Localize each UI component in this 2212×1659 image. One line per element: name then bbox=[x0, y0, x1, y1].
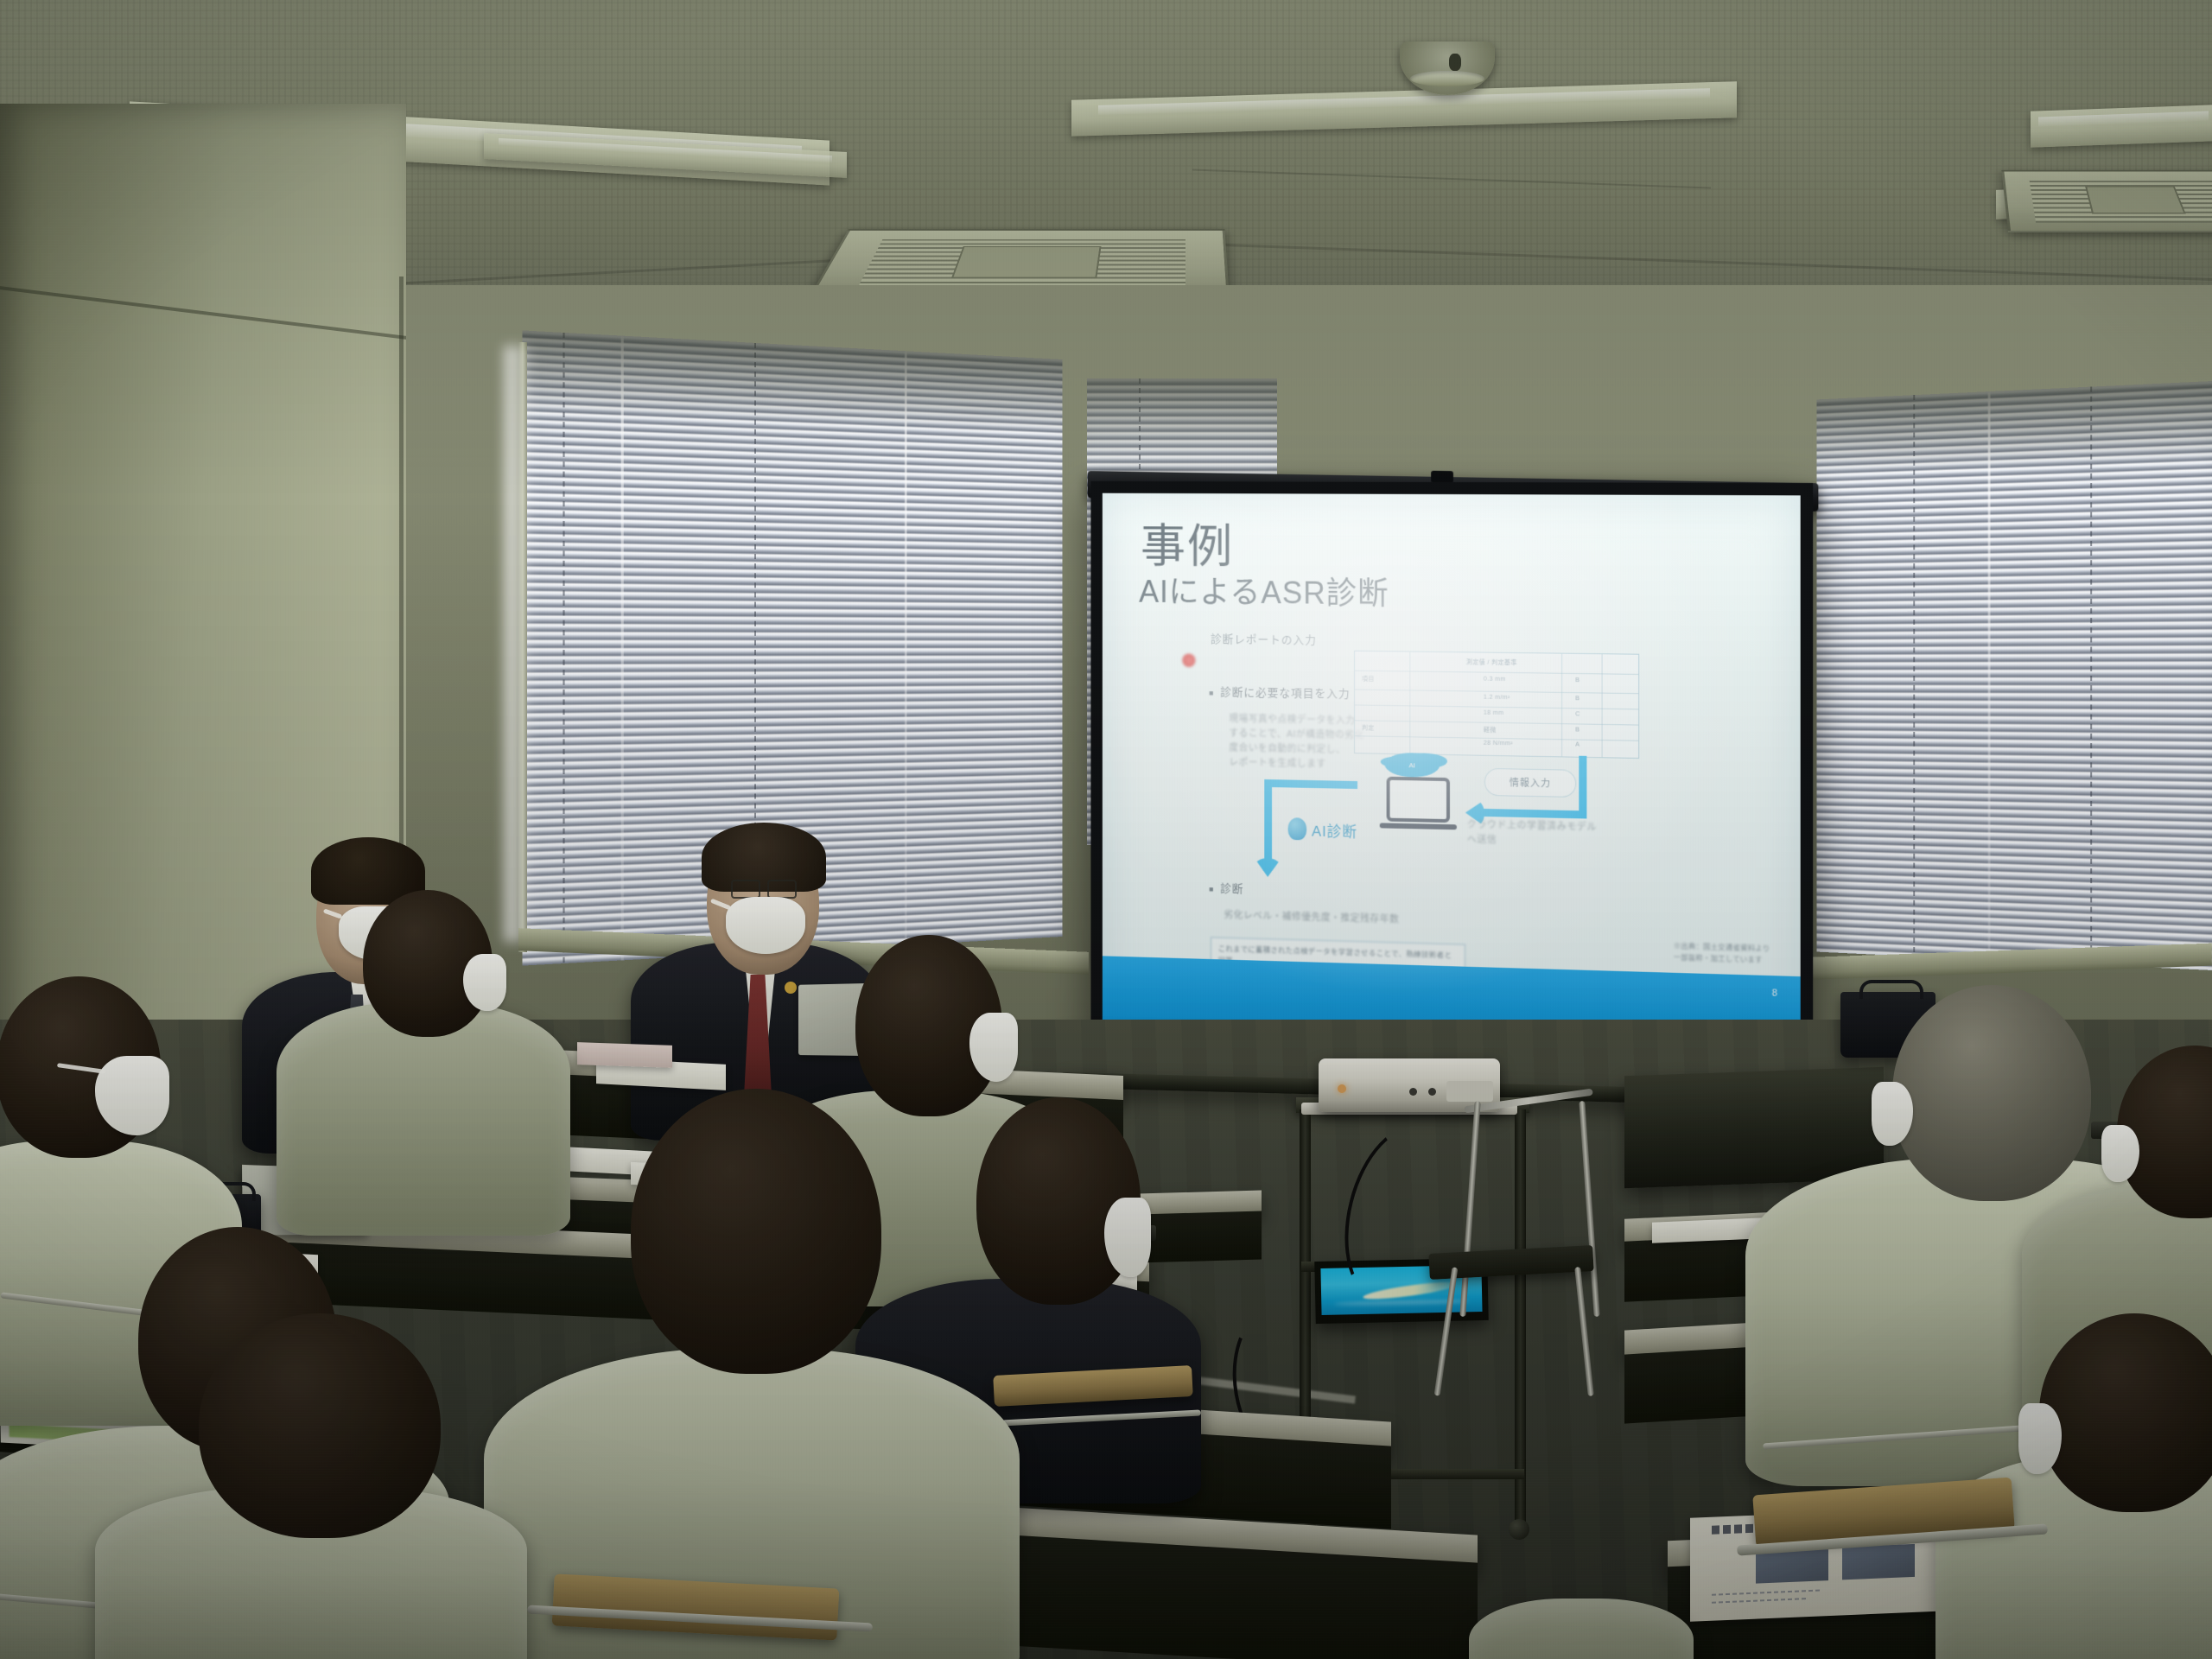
projected-slide: 事例 AIによるASR診断 診断レポートの入力 診断に必要な項目を入力 現場写真… bbox=[1103, 493, 1801, 1052]
slide-data-table: 項目 測定値 / 判定基準 0.3 mm 1.2 m/m² 18 mm 軽微 2… bbox=[1354, 651, 1639, 759]
wall-corner-seam bbox=[399, 276, 404, 933]
ai-badge-label: AI診断 bbox=[1312, 818, 1357, 841]
attendee-head bbox=[631, 1089, 881, 1374]
slide-result-line: 劣化レベル・補修優先度・推定残存年数 bbox=[1224, 908, 1505, 931]
window-blinds-right[interactable] bbox=[1816, 381, 2212, 970]
projection-screen[interactable]: 事例 AIによるASR診断 診断レポートの入力 診断に必要な項目を入力 現場写真… bbox=[1090, 481, 1813, 1065]
attendee-head bbox=[2039, 1313, 2212, 1512]
chair-leg bbox=[1434, 1267, 1459, 1396]
presenter-glasses bbox=[731, 880, 760, 899]
slide-arrow-note: クラウド上の学習済みモデルへ送信 bbox=[1467, 818, 1598, 851]
attendee-center-left-front bbox=[95, 1382, 527, 1659]
projector-port bbox=[1428, 1088, 1436, 1096]
chair-rail bbox=[1459, 1101, 1480, 1317]
projector-port bbox=[1409, 1088, 1417, 1096]
projector-power-led bbox=[1338, 1084, 1346, 1093]
slide-red-marker bbox=[1182, 653, 1195, 667]
ai-diagnosis-badge: AI診断 bbox=[1288, 817, 1358, 842]
slide-footnote: ※出典：国土交通省資料より 一部抜粋・加工しています bbox=[1674, 940, 1770, 967]
slide-lead-text: 診断レポートの入力 bbox=[1211, 630, 1317, 647]
slide-bullet-1: 診断に必要な項目を入力 bbox=[1209, 683, 1351, 701]
presenter-glasses bbox=[767, 880, 797, 899]
air-conditioner-unit bbox=[2001, 170, 2212, 232]
brain-icon bbox=[1288, 817, 1307, 840]
ceiling-light-fixture bbox=[2031, 105, 2212, 148]
slide-subtitle: AIによるASR診断 bbox=[1139, 575, 1389, 611]
ai-cloud-label: AI bbox=[1409, 761, 1415, 769]
attendee-face-mask bbox=[463, 954, 506, 1011]
slide-title: 事例 bbox=[1141, 524, 1234, 570]
window-light-glow bbox=[505, 346, 534, 942]
presenter-binder bbox=[577, 1042, 672, 1068]
laptop-illustration-icon bbox=[1380, 777, 1457, 836]
attendee-head bbox=[199, 1313, 441, 1538]
slide-bullet-2: 診断 bbox=[1209, 879, 1243, 896]
photo-scene: 事例 AIによるASR診断 診断レポートの入力 診断に必要な項目を入力 現場写真… bbox=[0, 0, 2212, 1659]
attendee-uniform bbox=[1469, 1599, 1694, 1659]
folding-chair[interactable] bbox=[1417, 1097, 1616, 1391]
attendee-bottom-right bbox=[1469, 1547, 1694, 1659]
slide-page-number: 8 bbox=[1772, 988, 1777, 998]
presenter-hair bbox=[702, 823, 826, 892]
slide-pill-label: 情報入力 bbox=[1484, 768, 1576, 798]
cart-caster bbox=[1509, 1519, 1529, 1540]
ai-cloud-icon: AI bbox=[1385, 753, 1440, 778]
